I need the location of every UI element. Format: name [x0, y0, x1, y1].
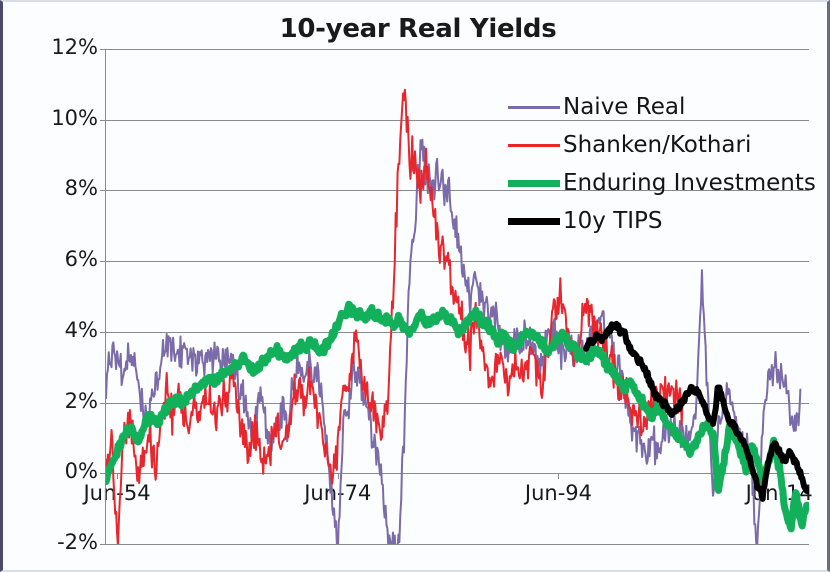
- chart-container: 10-year Real Yields 12%10%8%6%4%2%0%-2% …: [0, 0, 830, 572]
- legend-label: Enduring Investments: [563, 170, 816, 196]
- legend-label: Shanken/Kothari: [563, 132, 751, 158]
- legend-color-swatch: [508, 218, 560, 225]
- y-axis-line: [105, 49, 106, 544]
- chart-title: 10-year Real Yields: [3, 14, 830, 44]
- legend-color-swatch: [508, 106, 560, 109]
- y-tick-mark: [100, 544, 106, 545]
- legend-item[interactable]: 10y TIPS: [508, 202, 808, 240]
- legend-item[interactable]: Shanken/Kothari: [508, 126, 808, 164]
- legend-item[interactable]: Naive Real: [508, 88, 808, 126]
- legend-label: Naive Real: [563, 94, 685, 120]
- y-tick-label: 6%: [13, 247, 98, 271]
- y-tick-label: 2%: [13, 389, 98, 413]
- legend-color-swatch: [508, 180, 560, 187]
- legend-color-swatch: [508, 144, 560, 147]
- y-tick-label: 4%: [13, 318, 98, 342]
- y-tick-label: 10%: [13, 106, 98, 130]
- legend-label: 10y TIPS: [563, 208, 663, 234]
- legend-item[interactable]: Enduring Investments: [508, 164, 808, 202]
- gridline: [106, 544, 809, 545]
- series-line: [106, 304, 807, 529]
- y-tick-label: 0%: [13, 459, 98, 483]
- y-tick-label: -2%: [13, 530, 98, 554]
- chart-legend: Naive RealShanken/KothariEnduring Invest…: [508, 88, 808, 240]
- y-tick-label: 8%: [13, 176, 98, 200]
